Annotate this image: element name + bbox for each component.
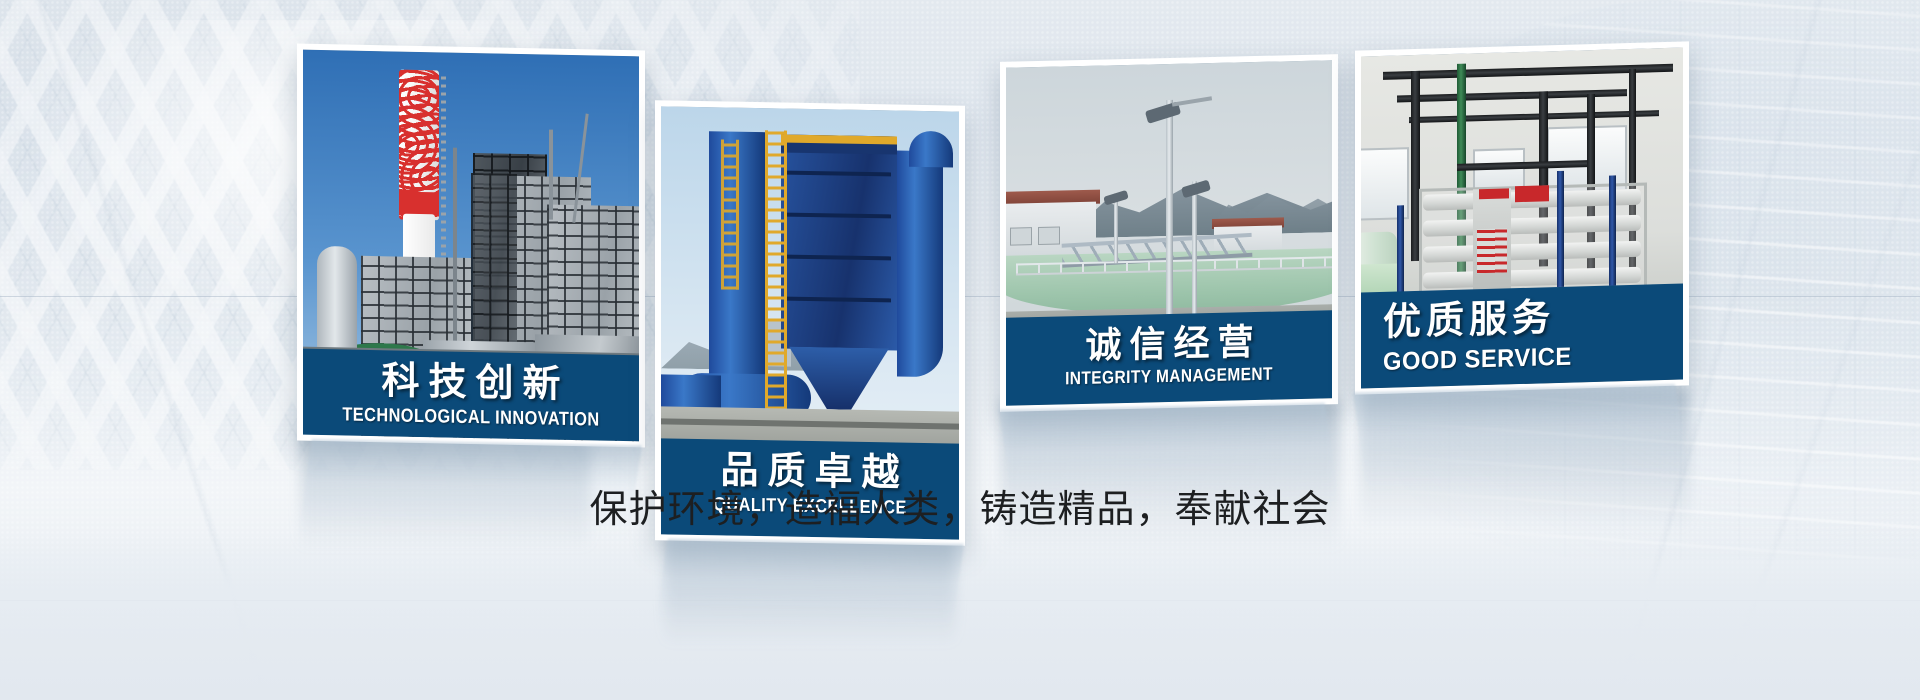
panel-title-en-4: GOOD SERVICE [1383,339,1662,377]
panel-inner-2: 品质卓越 QUALITY EXCELLENCE [661,106,959,539]
panel-title-cn-4: 优质服务 [1383,294,1677,345]
panel-inner-4: 优质服务 GOOD SERVICE [1361,48,1683,389]
panel-title-cn-3: 诚信经营 [1012,320,1326,367]
feature-panel-integrity-management[interactable]: 诚信经营 INTEGRITY MANAGEMENT [1000,54,1338,412]
panel-inner-1: 科技创新 TECHNOLOGICAL INNOVATION [303,50,639,442]
panel-inner-3: 诚信经营 INTEGRITY MANAGEMENT [1006,60,1332,405]
banner-stage: 科技创新 TECHNOLOGICAL INNOVATION [0,0,1920,700]
feature-panel-good-service[interactable]: 优质服务 GOOD SERVICE [1355,41,1689,394]
banner-tagline: 保护环境，造福人类，铸造精品，奉献社会 [0,478,1920,533]
panel-title-cn-1: 科技创新 [309,359,633,408]
panel-title-en-1: TECHNOLOGICAL INNOVATION [332,404,611,432]
panel-reflection-2 [656,539,964,628]
panel-title-en-3: INTEGRITY MANAGEMENT [1034,363,1304,391]
panel-label-1: 科技创新 TECHNOLOGICAL INNOVATION [303,349,639,442]
panel-reflection-4 [1353,384,1689,492]
panel-label-4: 优质服务 GOOD SERVICE [1361,284,1683,389]
panel-label-3: 诚信经营 INTEGRITY MANAGEMENT [1006,310,1332,405]
feature-panel-technological-innovation[interactable]: 科技创新 TECHNOLOGICAL INNOVATION [297,44,645,448]
